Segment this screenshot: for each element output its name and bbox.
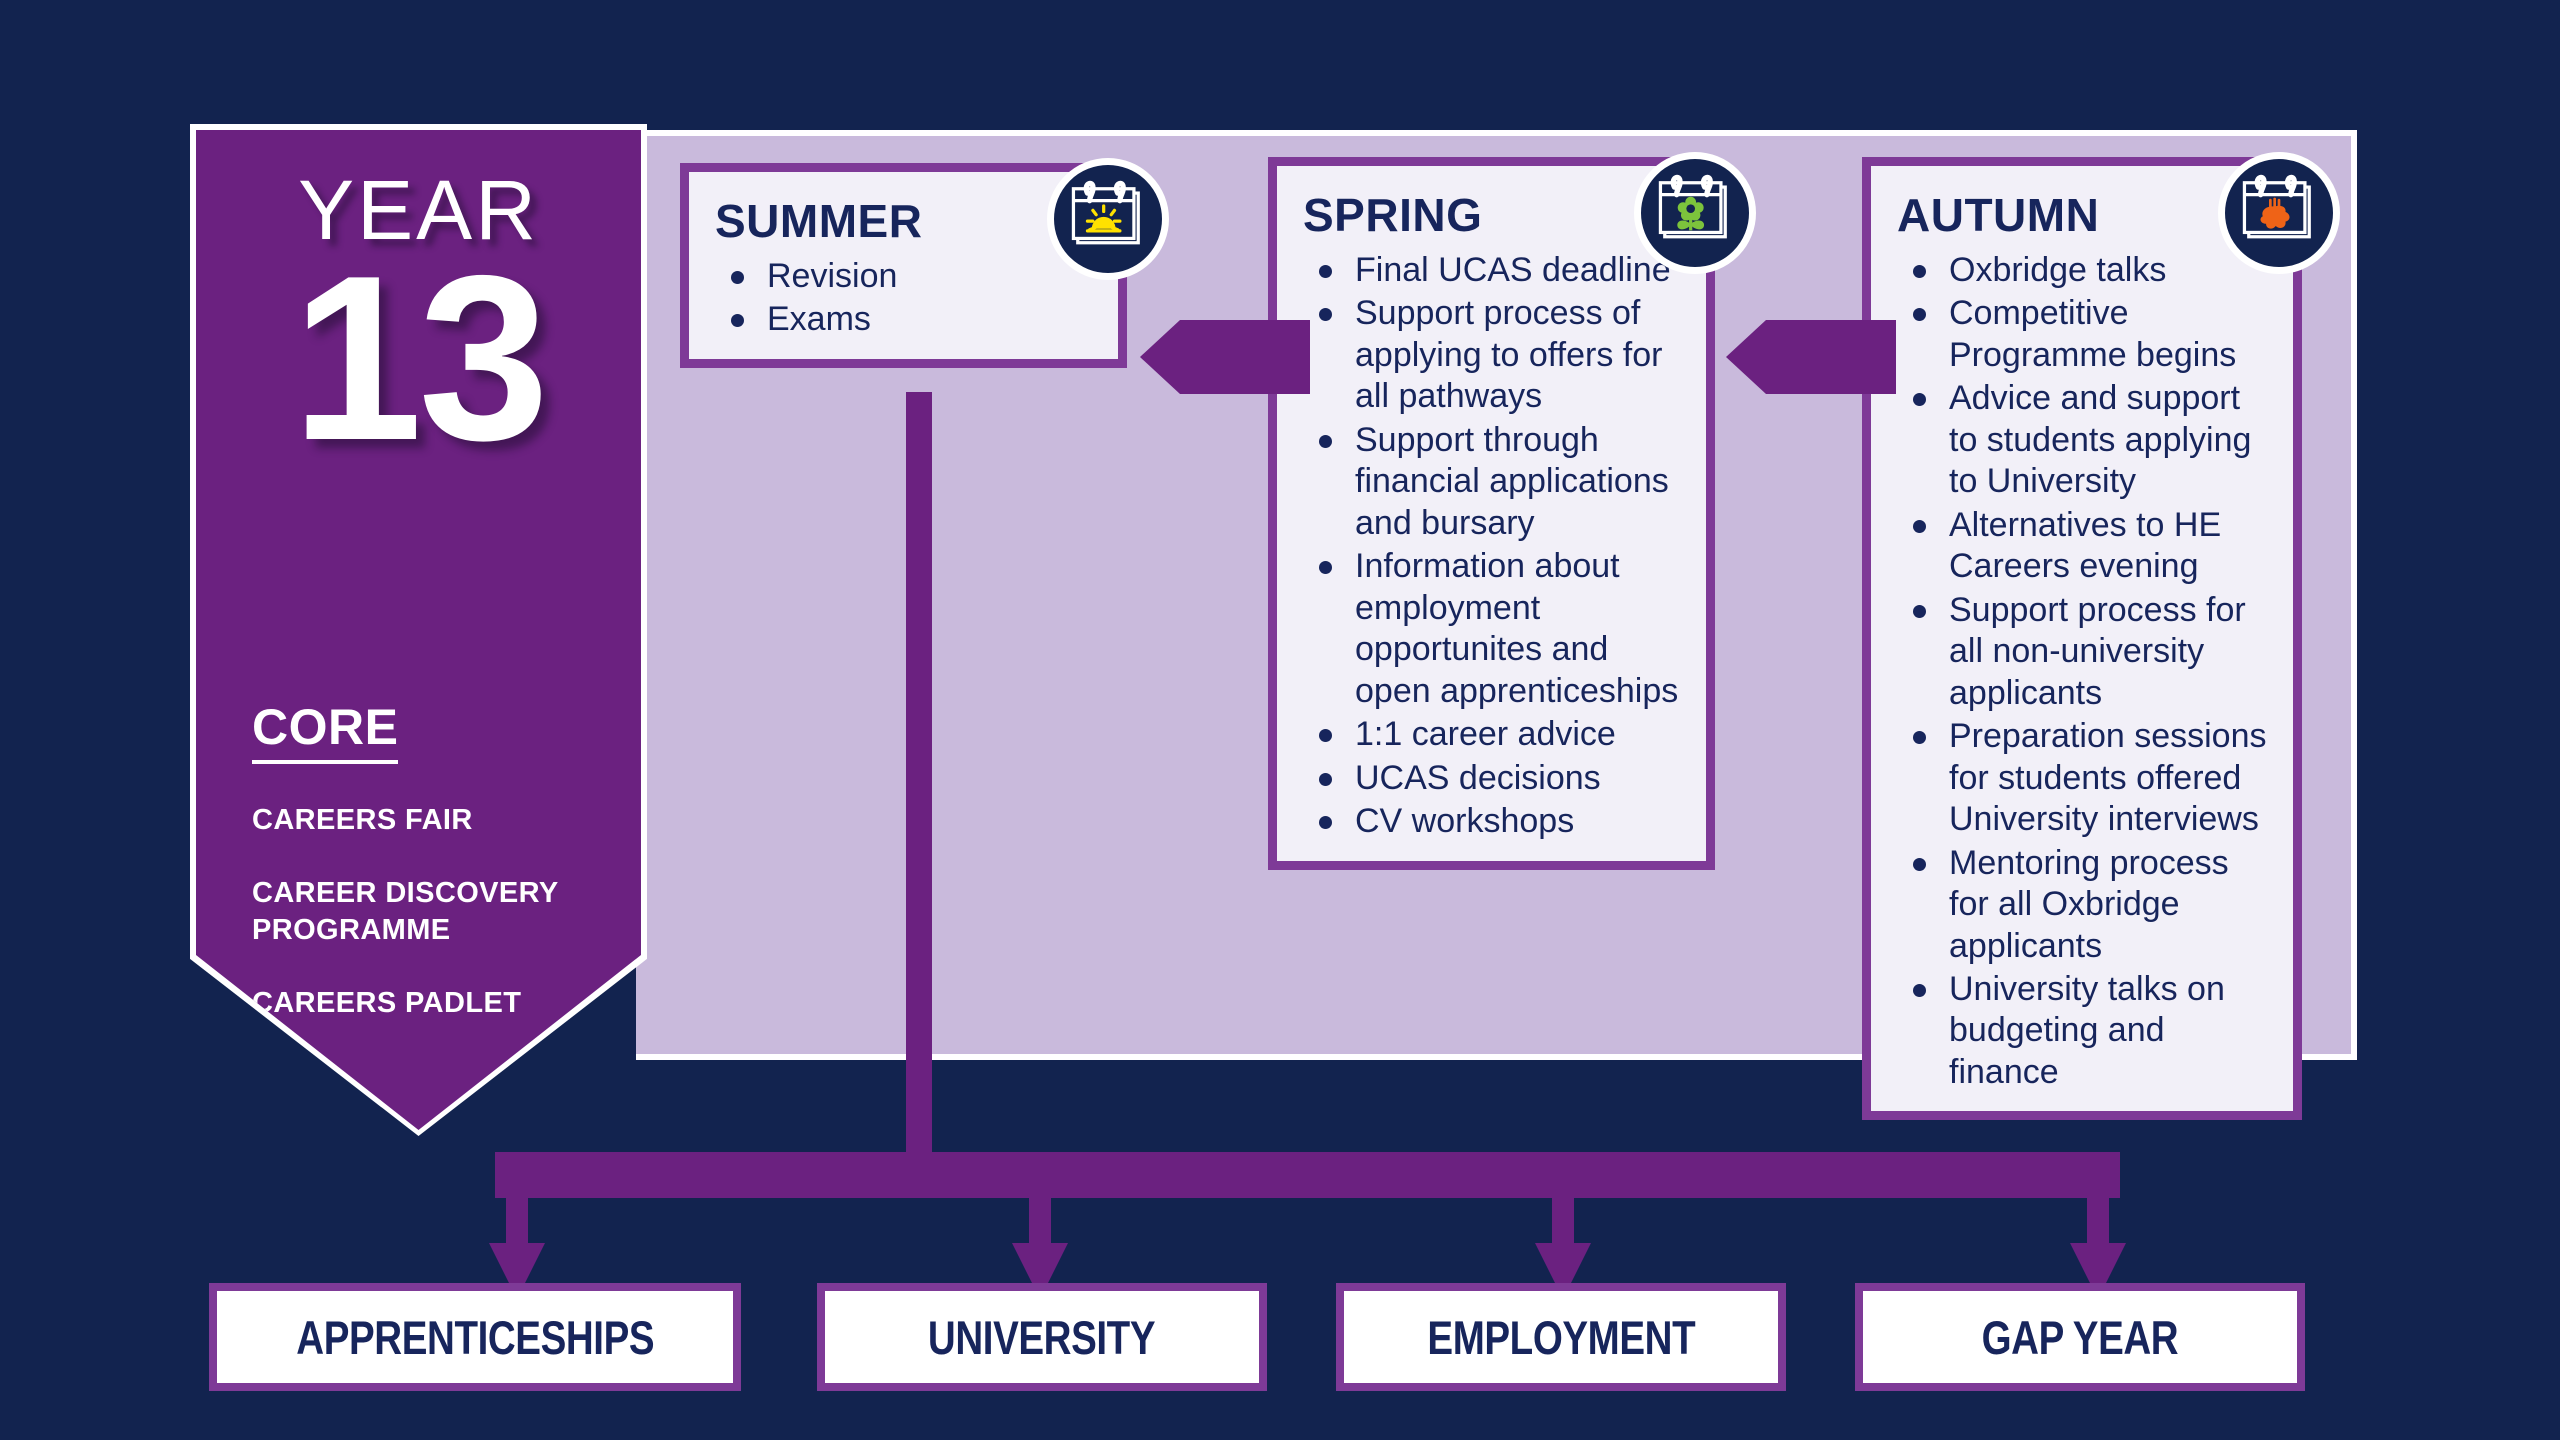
list-item: Oxbridge talks — [1905, 250, 2267, 291]
outcome-label: EMPLOYMENT — [1427, 1310, 1695, 1365]
list-item: Support process for all non-university a… — [1905, 590, 2267, 714]
outcome-label: GAP YEAR — [1982, 1310, 2179, 1365]
season-list-autumn: Oxbridge talks Competitive Programme beg… — [1905, 250, 2267, 1093]
year-number-label: 13 — [196, 240, 641, 475]
outcome-label: UNIVERSITY — [928, 1310, 1155, 1365]
list-item: Exams — [723, 299, 1092, 340]
list-item: Support through financial applications a… — [1311, 420, 1680, 544]
connector-bus-horizontal — [495, 1152, 2120, 1198]
list-item: Final UCAS deadline — [1311, 250, 1680, 291]
season-list-spring: Final UCAS deadline Support process of a… — [1311, 250, 1680, 843]
list-item: Mentoring process for all Oxbridge appli… — [1905, 843, 2267, 967]
calendar-leaf-icon — [2218, 152, 2340, 274]
list-item: 1:1 career advice — [1311, 714, 1680, 755]
year-banner: YEAR 13 CORE CAREERS FAIR CAREER DISCOVE… — [196, 130, 641, 1130]
season-card-autumn: AUTUMN Oxbridge talks Competitive Progra… — [1862, 157, 2302, 1120]
core-item-career-discovery: CAREER DISCOVERY PROGRAMME — [252, 875, 602, 949]
list-item: UCAS decisions — [1311, 758, 1680, 799]
connector-stem-vertical — [906, 392, 932, 1164]
core-heading: CORE — [252, 698, 398, 764]
list-item: Support process of applying to offers fo… — [1311, 293, 1680, 417]
list-item: Information about employment opportunite… — [1311, 546, 1680, 712]
core-item-careers-padlet: CAREERS PADLET — [252, 985, 602, 1022]
list-item: University talks on budgeting and financ… — [1905, 969, 2267, 1093]
list-item: Preparation sessions for students offere… — [1905, 716, 2267, 840]
list-item: CV workshops — [1311, 801, 1680, 842]
outcome-employment[interactable]: EMPLOYMENT — [1336, 1283, 1786, 1391]
outcome-apprenticeships[interactable]: APPRENTICESHIPS — [209, 1283, 741, 1391]
season-list-summer: Revision Exams — [723, 256, 1092, 341]
outcome-gap-year[interactable]: GAP YEAR — [1855, 1283, 2305, 1391]
core-item-careers-fair: CAREERS FAIR — [252, 802, 602, 839]
calendar-sun-icon — [1047, 158, 1169, 280]
list-item: Competitive Programme begins — [1905, 293, 2267, 376]
outcome-label: APPRENTICESHIPS — [296, 1310, 654, 1365]
outcome-university[interactable]: UNIVERSITY — [817, 1283, 1267, 1391]
calendar-flower-icon — [1634, 152, 1756, 274]
list-item: Alternatives to HE Careers evening — [1905, 505, 2267, 588]
core-list: CAREERS FAIR CAREER DISCOVERY PROGRAMME … — [252, 802, 602, 1022]
list-item: Advice and support to students applying … — [1905, 378, 2267, 502]
infographic-canvas: YEAR 13 CORE CAREERS FAIR CAREER DISCOVE… — [0, 0, 2560, 1440]
list-item: Revision — [723, 256, 1092, 297]
